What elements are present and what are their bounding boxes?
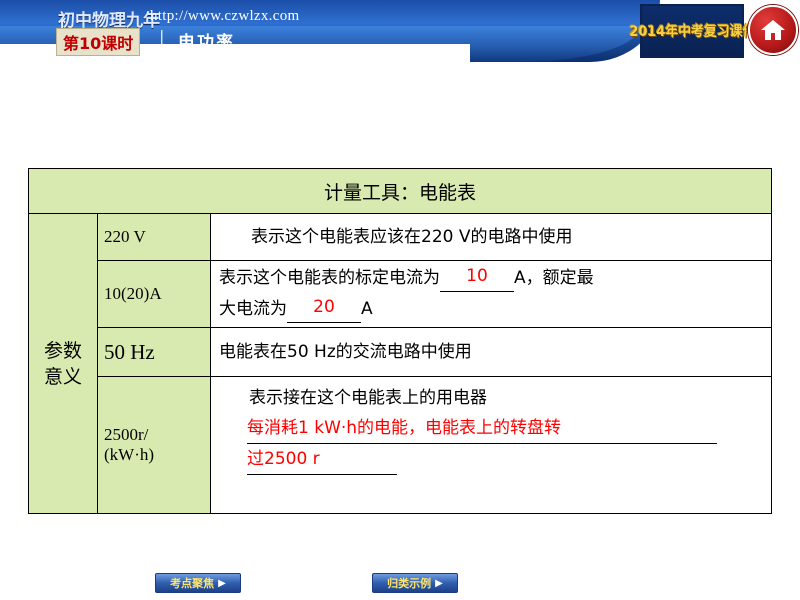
table-caption: 计量工具：电能表 [29, 169, 772, 214]
desc-voltage: 表示这个电能表应该在220 V的电路中使用 [211, 214, 772, 261]
table-row: 参数 意义 220 V 表示这个电能表应该在220 V的电路中使用 [29, 214, 772, 261]
page-title: 电功率 [178, 28, 235, 53]
course-banner-label: 2014年中考复习课件 [629, 21, 755, 41]
footer-button-examples-label: 归类示例 [387, 575, 431, 591]
desc-frequency: 电能表在50 Hz的交流电路中使用 [211, 328, 772, 377]
spec-frequency: 50 Hz [98, 328, 211, 377]
answer-blank-max-current[interactable]: 20 [287, 292, 361, 323]
spec-revolutions-line2: (kW·h) [104, 445, 210, 465]
desc-current-part-a: 表示这个电能表的标定电流为 [219, 268, 440, 288]
chevron-right-icon: ▶ [218, 578, 226, 589]
spec-revolutions: 2500r/ (kW·h) [98, 377, 211, 514]
desc-current-part-b: A，额定最 [514, 268, 594, 288]
footer-button-examples[interactable]: 归类示例 ▶ [372, 573, 458, 593]
footer-button-key-points-label: 考点聚焦 [170, 575, 214, 591]
answer-revolutions-line1[interactable]: 每消耗1 kW·h的电能，电能表上的转盘转 [247, 413, 717, 444]
param-meaning-label: 参数 意义 [29, 214, 98, 514]
table-row: 10(20)A 表示这个电能表的标定电流为10A，额定最 大电流为20A [29, 261, 772, 328]
chevron-right-icon: ▶ [435, 578, 443, 589]
param-label-line1: 参数 [29, 338, 97, 364]
answer-revolutions-line2[interactable]: 过2500 r [247, 444, 397, 475]
answer-blank-rated-current[interactable]: 10 [440, 261, 514, 292]
home-icon [760, 18, 786, 42]
page-header: 初中物理九年 http://www.czwlzx.com 第10课时 | 电功率… [0, 0, 800, 62]
desc-current-part-d: A [361, 299, 373, 319]
table-row: 50 Hz 电能表在50 Hz的交流电路中使用 [29, 328, 772, 377]
title-separator: | [160, 28, 164, 46]
footer-button-key-points[interactable]: 考点聚焦 ▶ [155, 573, 241, 593]
spec-current: 10(20)A [98, 261, 211, 328]
table-row: 2500r/ (kW·h) 表示接在这个电能表上的用电器 每消耗1 kW·h的电… [29, 377, 772, 514]
desc-revolutions-line1: 表示接在这个电能表上的用电器 [247, 388, 487, 408]
desc-current: 表示这个电能表的标定电流为10A，额定最 大电流为20A [211, 261, 772, 328]
desc-revolutions: 表示接在这个电能表上的用电器 每消耗1 kW·h的电能，电能表上的转盘转 过25… [211, 377, 772, 514]
meter-parameters-table: 计量工具：电能表 参数 意义 220 V 表示这个电能表应该在220 V的电路中… [28, 168, 772, 514]
spec-voltage: 220 V [98, 214, 211, 261]
home-button[interactable] [748, 5, 798, 55]
table-caption-row: 计量工具：电能表 [29, 169, 772, 214]
site-url[interactable]: http://www.czwlzx.com [150, 8, 299, 25]
lesson-number-badge: 第10课时 [56, 28, 140, 56]
course-banner: 2014年中考复习课件 [640, 4, 744, 58]
desc-current-part-c: 大电流为 [219, 299, 287, 319]
param-label-line2: 意义 [29, 364, 97, 390]
spec-revolutions-line1: 2500r/ [104, 425, 210, 445]
